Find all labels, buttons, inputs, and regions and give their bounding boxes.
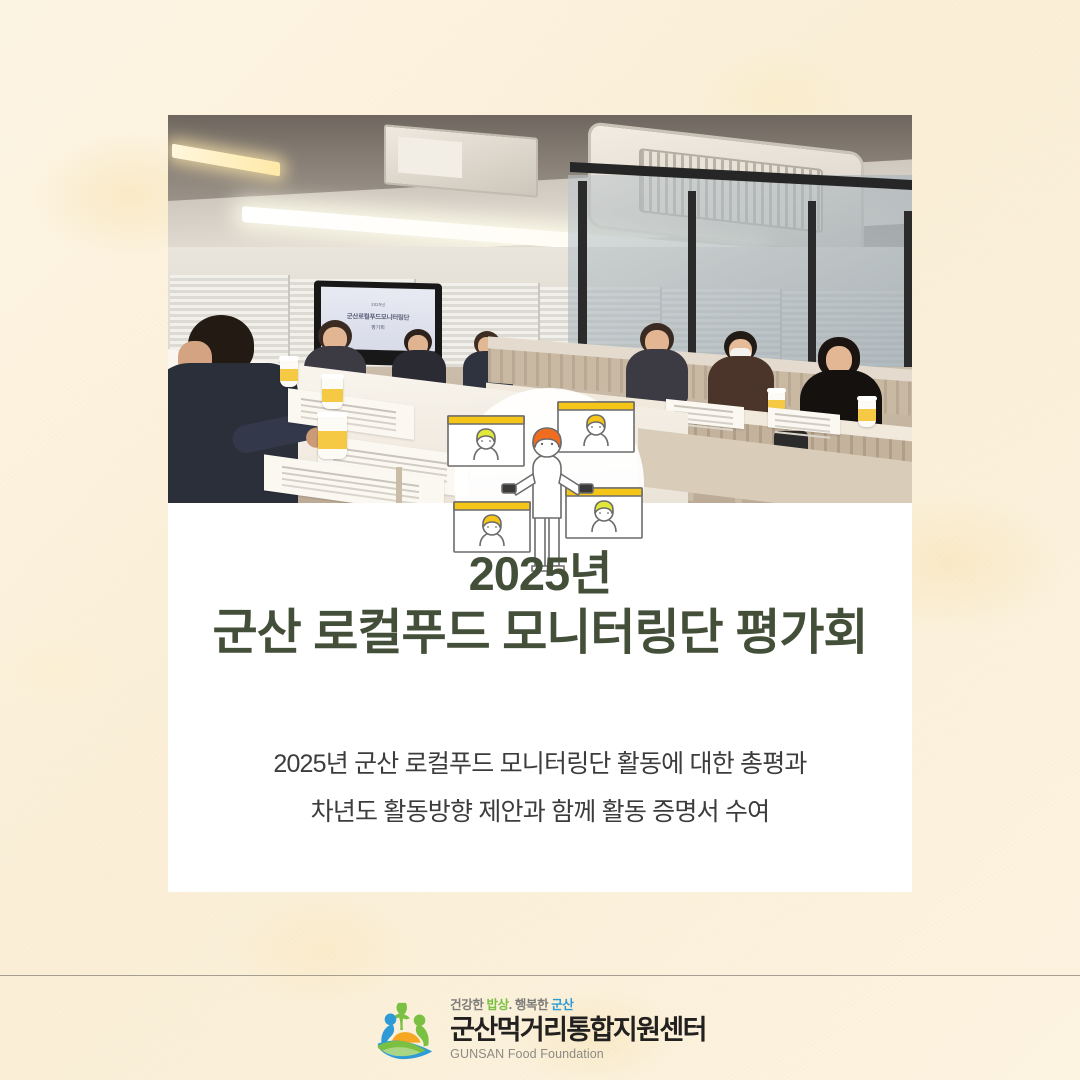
gunsan-food-foundation-logo-icon bbox=[374, 999, 436, 1061]
tagline-part-1: 건강한 bbox=[450, 998, 486, 1012]
title-line-1: 2025년 bbox=[168, 545, 912, 603]
description-line-1: 2025년 군산 로컬푸드 모니터링단 활동에 대한 총평과 bbox=[168, 740, 912, 788]
page-title: 2025년 군산 로컬푸드 모니터링단 평가회 bbox=[168, 545, 912, 664]
coffee-cup bbox=[322, 377, 343, 409]
footer-divider bbox=[0, 975, 1080, 976]
video-window bbox=[558, 402, 634, 452]
title-line-2: 군산 로컬푸드 모니터링단 평가회 bbox=[168, 603, 912, 664]
footer-tagline: 건강한 밥상. 행복한 군산 bbox=[450, 999, 706, 1012]
description-text: 2025년 군산 로컬푸드 모니터링단 활동에 대한 총평과 차년도 활동방향 … bbox=[168, 740, 912, 836]
coffee-cup bbox=[858, 399, 876, 427]
coffee-cup bbox=[280, 359, 298, 387]
organization-name: 군산먹거리통합지원센터 bbox=[450, 1016, 706, 1044]
content-card: 2025년 군산로컬푸드모니터링단 평가회 bbox=[168, 115, 912, 892]
footer: 건강한 밥상. 행복한 군산 군산먹거리통합지원센터 GUNSAN Food F… bbox=[0, 980, 1080, 1080]
table-leg bbox=[396, 467, 402, 503]
tagline-part-2: . 행복한 bbox=[509, 998, 552, 1012]
video-window bbox=[448, 416, 524, 466]
screen-line-1: 2025년 bbox=[321, 301, 435, 310]
footer-logo-text: 건강한 밥상. 행복한 군산 군산먹거리통합지원센터 GUNSAN Food F… bbox=[450, 999, 706, 1061]
description-line-2: 차년도 활동방향 제안과 함께 활동 증명서 수여 bbox=[168, 788, 912, 836]
tagline-highlight-1: 밥상 bbox=[487, 998, 509, 1012]
organization-english-name: GUNSAN Food Foundation bbox=[450, 1047, 706, 1061]
tagline-highlight-2: 군산 bbox=[551, 998, 573, 1012]
coffee-cup bbox=[318, 415, 347, 459]
